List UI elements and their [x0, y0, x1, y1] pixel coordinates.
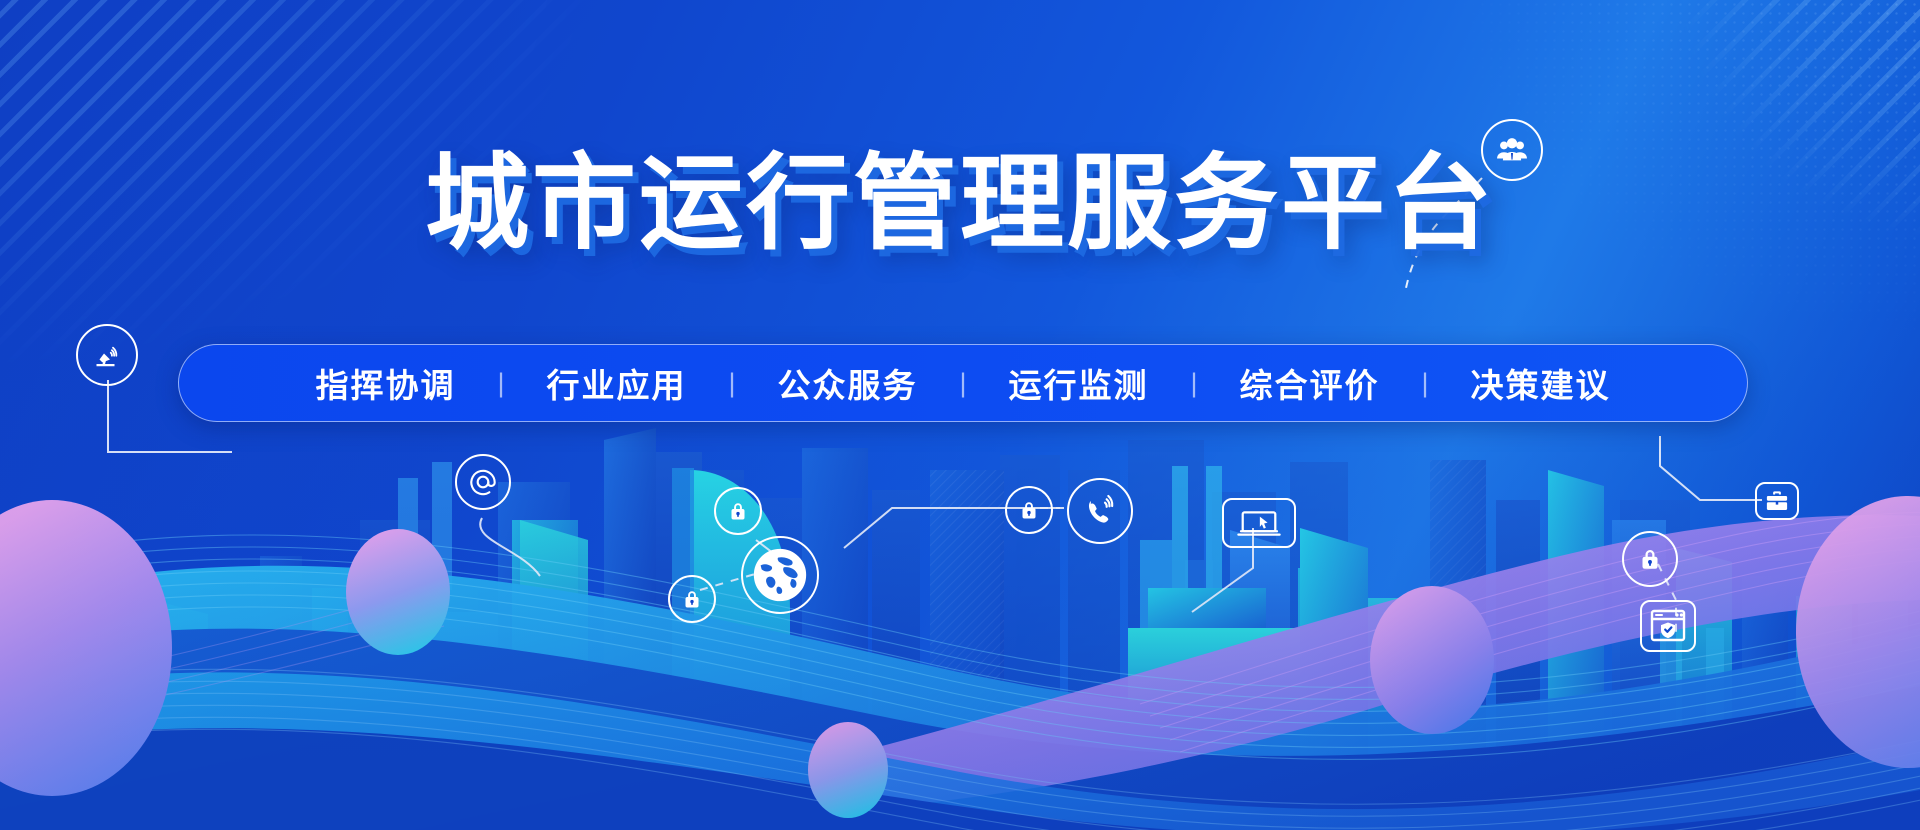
lock-icon-upper-left[interactable] [714, 487, 762, 535]
nav-item-comprehensive-evaluation[interactable]: 综合评价 [1200, 359, 1420, 407]
lock-icon-right[interactable] [1622, 531, 1678, 587]
laptop-cursor-icon[interactable] [1222, 498, 1296, 548]
nav-item-operation-monitoring[interactable]: 运行监测 [969, 359, 1189, 407]
nav-item-command-coordination[interactable]: 指挥协调 [275, 359, 495, 407]
nav-separator: | [957, 368, 968, 399]
nav-separator: | [1420, 368, 1431, 399]
browser-shield-icon[interactable] [1640, 600, 1696, 652]
lock-icon-center[interactable] [1005, 486, 1053, 534]
satellite-dish-icon[interactable] [76, 324, 138, 386]
briefcase-icon[interactable] [1755, 482, 1799, 520]
phone-call-icon[interactable] [1067, 478, 1133, 544]
lock-icon-lower-left[interactable] [668, 575, 716, 623]
globe-icon[interactable] [741, 536, 819, 614]
nav-pill: 指挥协调 | 行业应用 | 公众服务 | 运行监测 | 综合评价 | 决策建议 [178, 344, 1748, 422]
page-title: 城市运行管理服务平台 [0, 148, 1920, 260]
nav-item-decision-advice[interactable]: 决策建议 [1431, 359, 1651, 407]
nav-separator: | [726, 368, 737, 399]
city-operation-platform-banner: 城市运行管理服务平台 指挥协调 | 行业应用 | 公众服务 | 运行监测 | 综… [0, 0, 1920, 830]
primary-nav: 指挥协调 | 行业应用 | 公众服务 | 运行监测 | 综合评价 | 决策建议 [178, 344, 1748, 422]
nav-separator: | [495, 368, 506, 399]
at-sign-icon[interactable] [455, 454, 511, 510]
nav-separator: | [1189, 368, 1200, 399]
nav-item-industry-application[interactable]: 行业应用 [506, 359, 726, 407]
people-group-icon[interactable] [1481, 119, 1543, 181]
nav-item-public-service[interactable]: 公众服务 [737, 359, 957, 407]
